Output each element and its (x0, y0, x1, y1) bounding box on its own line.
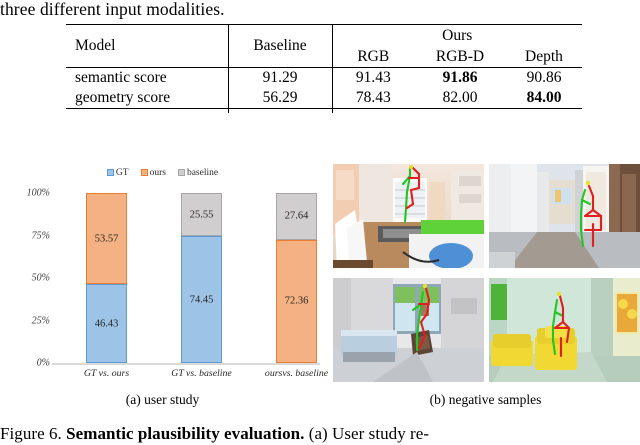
caption-rest: (a) User study re- (309, 424, 429, 443)
table-header-depth: Depth (506, 46, 582, 68)
stacked-bar[interactable]: 27.6472.36 (276, 193, 317, 363)
legend-item-gt[interactable]: GT (107, 168, 129, 178)
sample-panel-hallway-doors (489, 164, 640, 268)
subcaption-b: (b) negative samples (331, 392, 640, 408)
y-axis-tick-label: 75% (32, 230, 50, 241)
results-table: Model Baseline Ours RGB RGB-D Depth sema… (66, 24, 582, 113)
x-axis-labels: GT vs. oursGT vs. baselineoursvs. baseli… (0, 366, 325, 386)
table-row: geometry score 56.29 78.43 82.00 84.00 (66, 88, 582, 109)
figure-caption: Figure 6. Semantic plausibility evaluati… (0, 424, 640, 444)
bar-value-label: 72.36 (277, 296, 316, 307)
subcaption-a: (a) user study (0, 392, 325, 408)
negative-samples-grid (331, 164, 640, 388)
legend-label: baseline (187, 168, 218, 178)
body-text-line: three different input modalities. (0, 0, 225, 19)
cell-semantic-baseline: 91.29 (228, 68, 332, 89)
x-axis-tick-label: GT vs. baseline (171, 368, 232, 379)
table-header-model: Model (66, 25, 228, 68)
sample-panel-living-room-green-bed (333, 164, 484, 268)
results-table-container: Model Baseline Ours RGB RGB-D Depth sema… (66, 24, 582, 113)
skeleton-overlay (489, 278, 640, 382)
caption-figure-label: Figure 6. (0, 424, 62, 443)
x-axis-tick-label: GT vs. ours (84, 368, 129, 379)
stacked-bar[interactable]: 25.5574.45 (181, 193, 222, 363)
skeleton-overlay (333, 164, 484, 268)
cell-geometry-rgb: 78.43 (332, 88, 414, 109)
table-header-row-group: Model Baseline Ours (66, 25, 582, 47)
bar-segment-baseline[interactable]: 25.55 (181, 193, 222, 236)
bar-value-label: 46.43 (87, 318, 126, 329)
cell-semantic-rgb: 91.43 (332, 68, 414, 89)
table-bottom-rule (66, 109, 582, 114)
bar-segment-ours[interactable]: 53.57 (86, 193, 127, 284)
y-axis-tick-label: 100% (27, 188, 50, 199)
legend-label: GT (116, 168, 129, 178)
cell-geometry-baseline: 56.29 (228, 88, 332, 109)
caption-bold-title: Semantic plausibility evaluation. (66, 424, 304, 443)
table-header-baseline: Baseline (228, 25, 332, 68)
sample-panel-bedroom-window-chair (333, 278, 484, 382)
legend-label: ours (150, 168, 166, 178)
legend-item-baseline[interactable]: baseline (178, 168, 218, 178)
bar-segment-baseline[interactable]: 27.64 (276, 193, 317, 240)
plot-area: 53.5746.4325.5574.4527.6472.36 (56, 193, 316, 363)
skeleton-overlay (489, 164, 640, 268)
row-label-semantic-score: semantic score (66, 68, 228, 89)
user-study-chart: GToursbaseline 100%75%50%25%0% 53.5746.4… (0, 160, 325, 388)
table-header-rgb: RGB (332, 46, 414, 68)
stacked-bar[interactable]: 53.5746.43 (86, 193, 127, 363)
y-axis: 100%75%50%25%0% (0, 193, 52, 369)
legend-swatch-gt-icon (107, 169, 114, 176)
bar-value-label: 53.57 (87, 233, 126, 244)
bar-value-label: 27.64 (277, 211, 316, 222)
table-header-ours-group: Ours (332, 25, 582, 47)
y-axis-tick-label: 50% (32, 273, 50, 284)
table-row: semantic score 91.29 91.43 91.86 90.86 (66, 68, 582, 89)
legend-swatch-baseline-icon (178, 169, 185, 176)
bar-segment-gt[interactable]: 46.43 (86, 284, 127, 363)
cell-semantic-rgbd: 91.86 (414, 68, 506, 89)
bar-value-label: 74.45 (182, 294, 221, 305)
cell-geometry-rgbd: 82.00 (414, 88, 506, 109)
bar-segment-gt[interactable]: 74.45 (181, 236, 222, 363)
bar-value-label: 25.55 (182, 209, 221, 220)
cell-geometry-depth: 84.00 (506, 88, 582, 109)
table-header-rgbd: RGB-D (414, 46, 506, 68)
x-axis-line (52, 363, 320, 365)
chart-legend: GToursbaseline (0, 168, 325, 178)
x-axis-tick-label: oursvs. baseline (265, 368, 328, 379)
y-axis-tick-label: 25% (32, 315, 50, 326)
cell-semantic-depth: 90.86 (506, 68, 582, 89)
legend-swatch-ours-icon (141, 169, 148, 176)
legend-item-ours[interactable]: ours (141, 168, 166, 178)
sample-panel-yellow-sofa-room (489, 278, 640, 382)
skeleton-overlay (333, 278, 484, 382)
bar-segment-ours[interactable]: 72.36 (276, 240, 317, 363)
figure-6: GToursbaseline 100%75%50%25%0% 53.5746.4… (0, 160, 640, 420)
row-label-geometry-score: geometry score (66, 88, 228, 109)
